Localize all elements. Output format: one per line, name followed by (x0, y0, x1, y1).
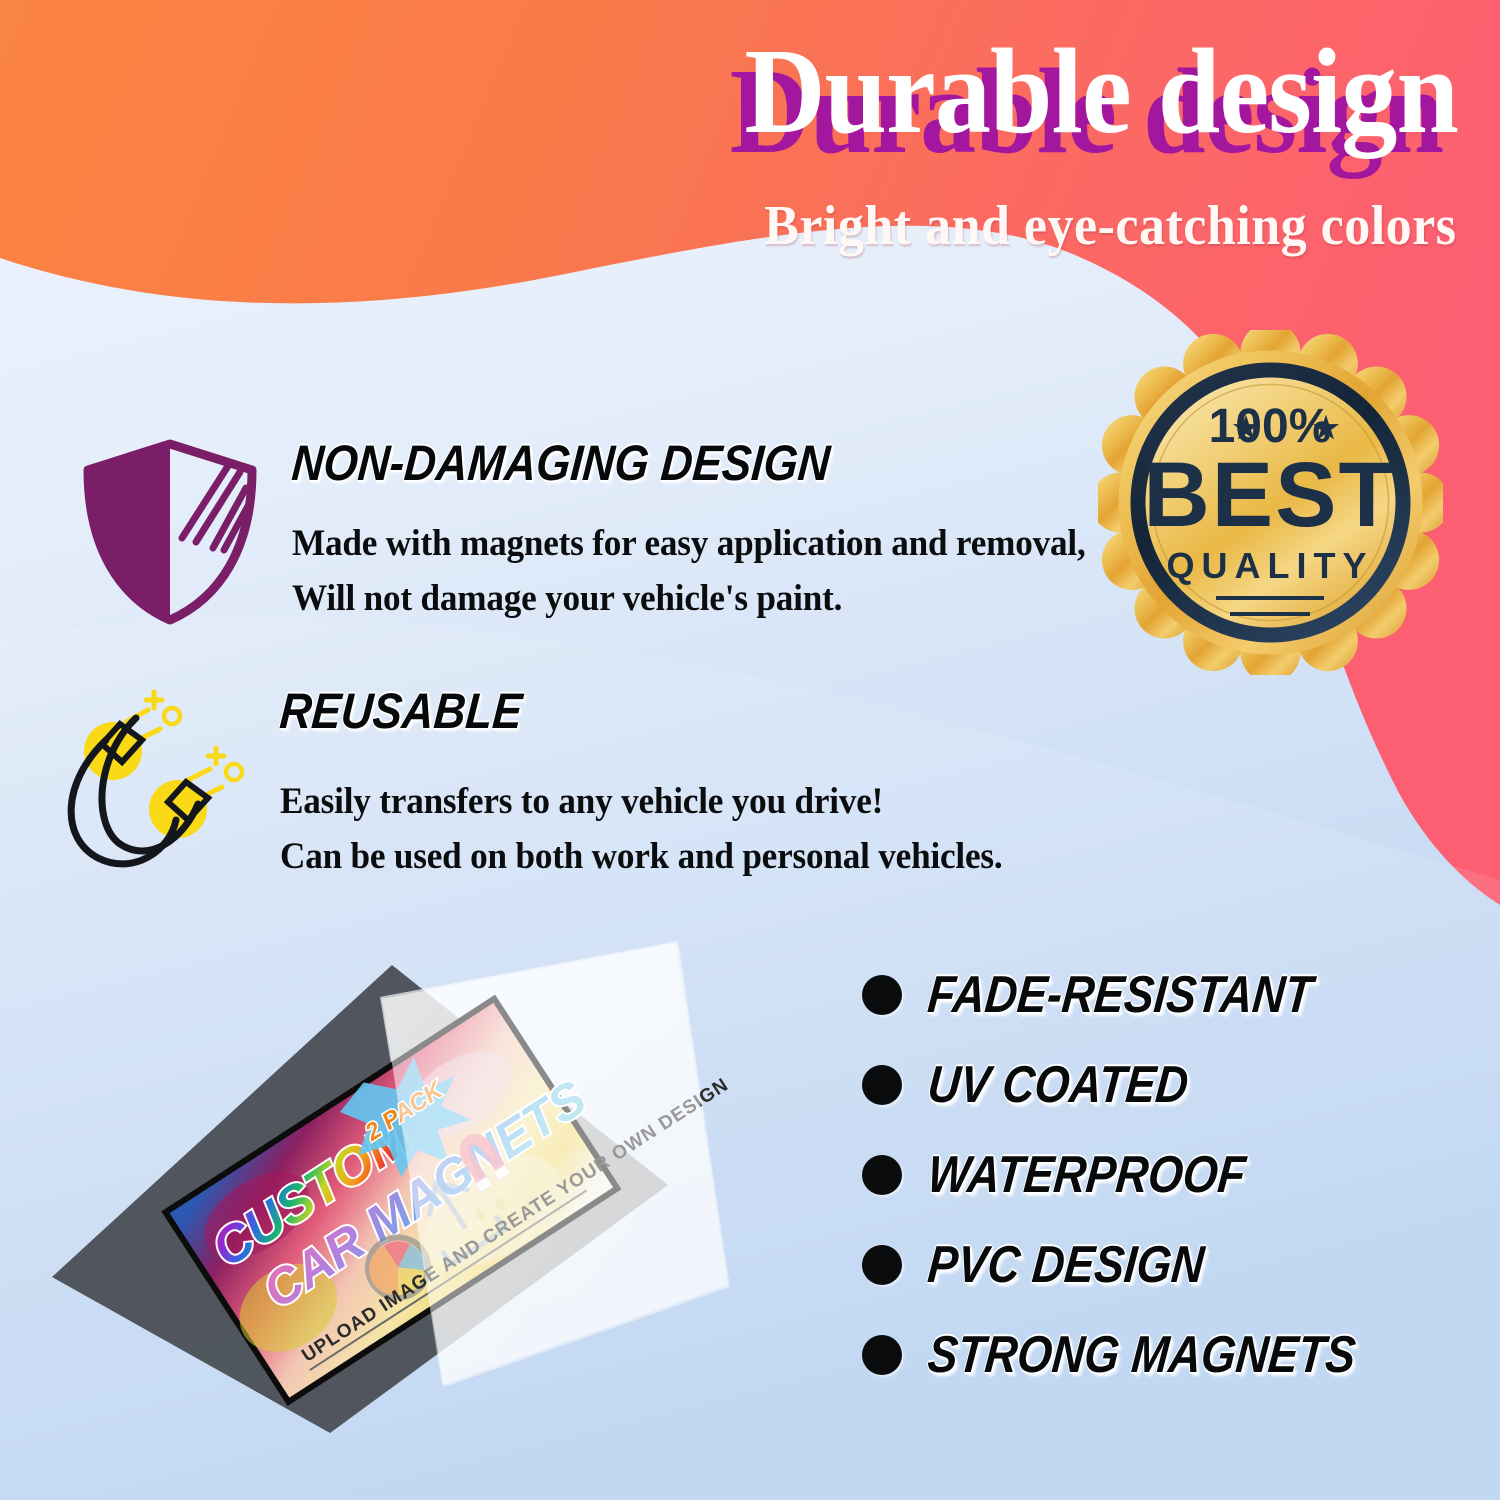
bullet-dot-icon (862, 1065, 902, 1105)
bullet-dot-icon (862, 1155, 902, 1195)
page-subtitle: Bright and eye-catching colors (764, 196, 1456, 256)
feature-text-block: REUSABLE Easily transfers to any vehicle… (280, 684, 1070, 884)
bullet-dot-icon (862, 1245, 902, 1285)
list-item: UV COATED (862, 1040, 1482, 1130)
bullet-label: UV COATED (925, 1057, 1190, 1113)
feature-bullet-list: FADE-RESISTANT UV COATED WATERPROOF PVC … (862, 950, 1482, 1400)
badge-sub-label: QUALITY (1167, 545, 1374, 586)
feature-heading: NON-DAMAGING DESIGN (290, 436, 989, 490)
feature-heading: REUSABLE (278, 684, 977, 738)
page-title: Durable design Durable design (398, 34, 1458, 194)
bullet-label: STRONG MAGNETS (925, 1327, 1357, 1383)
badge-seal-icon: ★ 100% ★ BEST QUALITY (1098, 330, 1443, 675)
bullet-label: WATERPROOF (925, 1147, 1247, 1203)
feature-line: Will not damage your vehicle's paint. (292, 571, 1043, 626)
badge-main-label: BEST (1143, 444, 1396, 546)
feature-text-block: NON-DAMAGING DESIGN Made with magnets fo… (292, 436, 1082, 626)
feature-line: Made with magnets for easy application a… (292, 516, 1043, 571)
bullet-dot-icon (862, 975, 902, 1015)
bullet-label: PVC DESIGN (925, 1237, 1206, 1293)
car-magnet-product-mockup: CUSTOM 2 PACK CAR MAGNETS (40, 935, 830, 1455)
infographic-poster: Durable design Durable design Bright and… (0, 0, 1500, 1500)
bullet-label: FADE-RESISTANT (925, 967, 1314, 1023)
badge-star-right: ★ (1313, 412, 1340, 445)
header: Durable design Durable design Bright and… (0, 0, 1500, 290)
magnet-icon (58, 678, 258, 878)
list-item: WATERPROOF (862, 1130, 1482, 1220)
best-quality-badge: ★ 100% ★ BEST QUALITY (1098, 330, 1443, 675)
bullet-dot-icon (862, 1335, 902, 1375)
feature-line: Can be used on both work and personal ve… (280, 829, 1031, 884)
list-item: FADE-RESISTANT (862, 950, 1482, 1040)
shield-icon (70, 430, 270, 630)
list-item: PVC DESIGN (862, 1220, 1482, 1310)
front-translucent-sheet (382, 943, 728, 1385)
feature-line: Easily transfers to any vehicle you driv… (280, 774, 1031, 829)
list-item: STRONG MAGNETS (862, 1310, 1482, 1400)
page-title-text: Durable design (483, 34, 1458, 150)
